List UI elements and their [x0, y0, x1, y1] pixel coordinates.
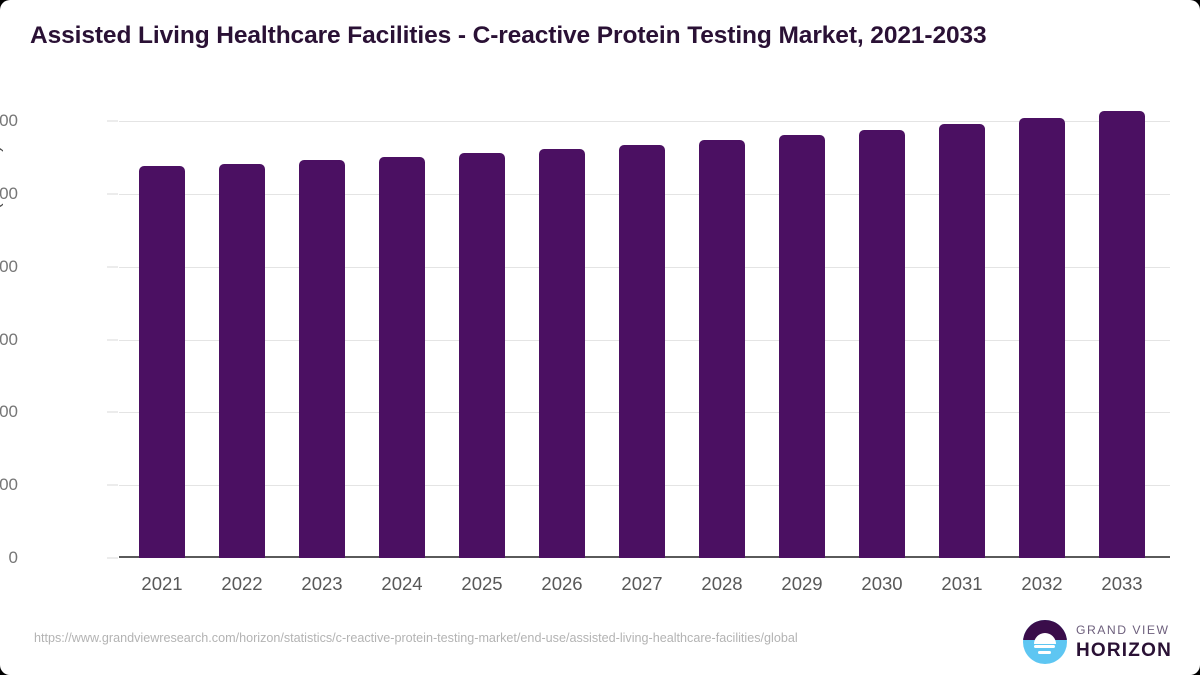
- logo-line-2: HORIZON: [1076, 641, 1172, 660]
- y-tick-label: 400: [0, 402, 18, 422]
- y-tick-mark: [107, 339, 118, 340]
- y-tick-mark: [107, 558, 118, 559]
- y-axis-title: Market Size (US$M): [0, 0, 4, 459]
- x-tick-label-2033: 2033: [1067, 573, 1177, 595]
- bar-2021[interactable]: [139, 166, 185, 558]
- chart-page: Assisted Living Healthcare Facilities - …: [0, 0, 1200, 675]
- bar-2032[interactable]: [1019, 118, 1065, 558]
- y-tick-label: 1200: [0, 111, 18, 131]
- y-tick-label: 600: [0, 330, 18, 350]
- chart-canvas: Market Size (US$M) 020040060080010001200…: [0, 0, 1200, 675]
- sunrise-horizon-icon: [1023, 620, 1067, 664]
- bar-2022[interactable]: [219, 164, 265, 558]
- y-tick-label: 800: [0, 257, 18, 277]
- source-url[interactable]: https://www.grandviewresearch.com/horizo…: [34, 629, 924, 647]
- y-tick-label: 200: [0, 475, 18, 495]
- logo-line-1: GRAND VIEW: [1076, 624, 1172, 636]
- y-tick-label: 0: [0, 548, 18, 568]
- y-tick-mark: [107, 412, 118, 413]
- y-tick-mark: [107, 485, 118, 486]
- logo-bar-lower: [1038, 651, 1051, 654]
- bar-2027[interactable]: [619, 145, 665, 558]
- bar-2024[interactable]: [379, 157, 425, 558]
- logo-wordmark: GRAND VIEW HORIZON: [1076, 624, 1172, 659]
- bar-2033[interactable]: [1099, 111, 1145, 558]
- bar-2028[interactable]: [699, 140, 745, 558]
- bar-2026[interactable]: [539, 149, 585, 558]
- bar-2031[interactable]: [939, 124, 985, 558]
- y-tick-mark: [107, 266, 118, 267]
- bar-2029[interactable]: [779, 135, 825, 558]
- bar-2023[interactable]: [299, 160, 345, 558]
- gridline: [119, 121, 1170, 122]
- bar-2030[interactable]: [859, 130, 905, 558]
- y-tick-mark: [107, 121, 118, 122]
- bar-2025[interactable]: [459, 153, 505, 558]
- y-tick-mark: [107, 193, 118, 194]
- logo-bar-upper: [1034, 645, 1055, 648]
- y-tick-label: 1000: [0, 184, 18, 204]
- brand-logo: GRAND VIEW HORIZON: [1023, 620, 1172, 664]
- plot-area: [119, 121, 1170, 558]
